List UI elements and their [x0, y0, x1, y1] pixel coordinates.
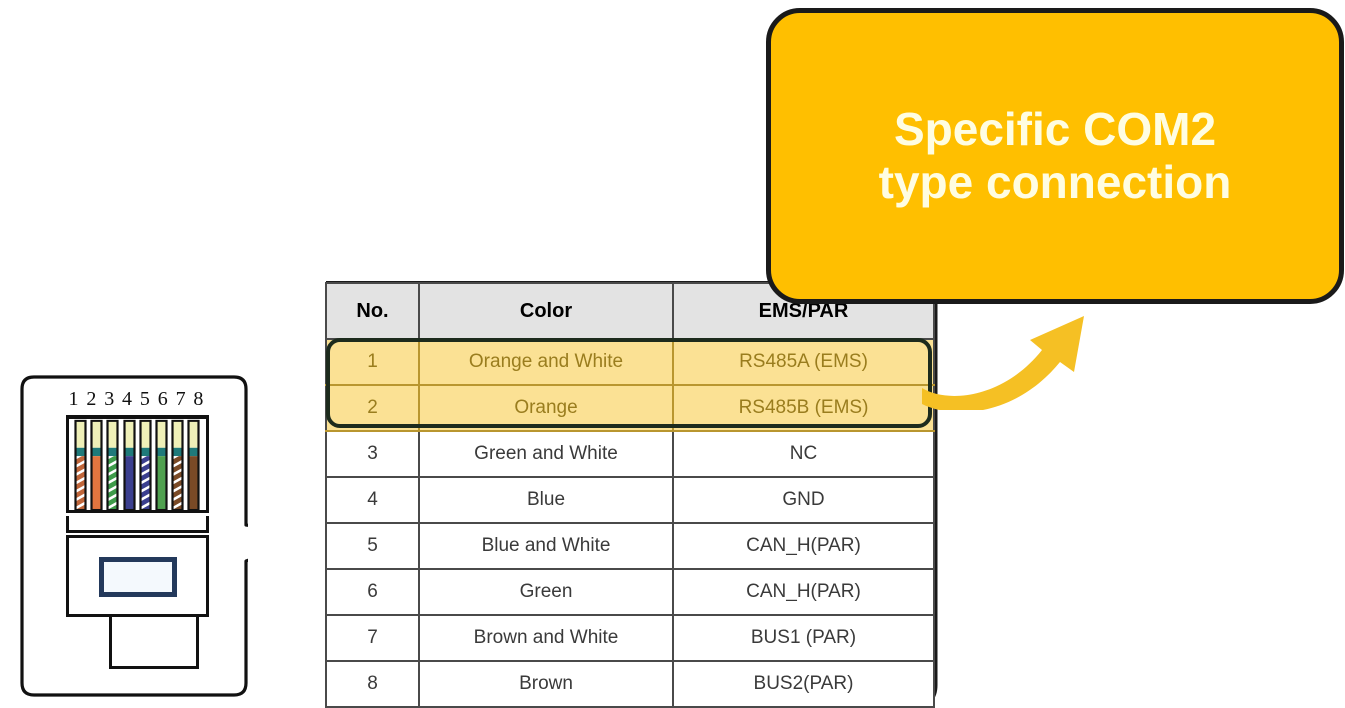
- column-header-no: No.: [326, 283, 419, 339]
- rj45-pin-number: 4: [120, 389, 135, 409]
- cell-pin-number: 7: [326, 615, 419, 661]
- rj45-contact-area: [66, 415, 209, 513]
- background-residual-text-left: [756, 70, 760, 85]
- rj45-pin-number: 8: [191, 389, 206, 409]
- rj45-body: [66, 535, 209, 617]
- cell-wire-color: Blue and White: [419, 523, 673, 569]
- cell-ems-par: CAN_H(PAR): [673, 523, 934, 569]
- table-row: 6GreenCAN_H(PAR): [326, 569, 934, 615]
- rj45-wire-pin-1: [74, 419, 87, 510]
- cell-wire-color: Green and White: [419, 431, 673, 477]
- rj45-wire-pin-3: [106, 419, 119, 510]
- cell-pin-number: 6: [326, 569, 419, 615]
- cell-ems-par: CAN_H(PAR): [673, 569, 934, 615]
- cell-ems-par: BUS2(PAR): [673, 661, 934, 707]
- table-row: 4BlueGND: [326, 477, 934, 523]
- cell-wire-color: Orange and White: [419, 339, 673, 385]
- cell-ems-par: GND: [673, 477, 934, 523]
- rj45-pin-number: 6: [155, 389, 170, 409]
- com2-callout-label: Specific COM2 type connection: [771, 103, 1339, 209]
- rj45-pinout-table: No. Color EMS/PAR 1Orange and WhiteRS485…: [325, 282, 935, 708]
- table-row: 1Orange and WhiteRS485A (EMS): [326, 339, 934, 385]
- rj45-wire-pin-4: [123, 419, 136, 510]
- cell-wire-color: Blue: [419, 477, 673, 523]
- cell-ems-par: RS485A (EMS): [673, 339, 934, 385]
- cell-pin-number: 3: [326, 431, 419, 477]
- cell-pin-number: 5: [326, 523, 419, 569]
- cell-wire-color: Brown and White: [419, 615, 673, 661]
- rj45-pin-number-row: 1 2 3 4 5 6 7 8: [66, 389, 206, 409]
- cell-wire-color: Green: [419, 569, 673, 615]
- cell-wire-color: Brown: [419, 661, 673, 707]
- rj45-wire-pin-2: [90, 419, 103, 510]
- curved-arrow-icon: [918, 292, 1093, 410]
- cell-pin-number: 8: [326, 661, 419, 707]
- diagram-canvas: 1 2 3 4 5 6 7 8 No. Color: [0, 0, 1345, 708]
- table-row: 7Brown and WhiteBUS1 (PAR): [326, 615, 934, 661]
- rj45-cable-tab: [109, 617, 199, 669]
- rj45-pin-number: 3: [102, 389, 117, 409]
- cell-wire-color: Orange: [419, 385, 673, 431]
- table-row: 3Green and WhiteNC: [326, 431, 934, 477]
- cell-pin-number: 1: [326, 339, 419, 385]
- background-residual-text-top: [775, 1, 779, 16]
- rj45-wire-pin-8: [187, 419, 200, 510]
- rj45-wire-pin-7: [171, 419, 184, 510]
- table-row: 2OrangeRS485B (EMS): [326, 385, 934, 431]
- rj45-contact-gap: [66, 516, 209, 533]
- pinout-table-callout: No. Color EMS/PAR 1Orange and WhiteRS485…: [324, 281, 952, 708]
- cell-ems-par: RS485B (EMS): [673, 385, 934, 431]
- rj45-wire-pin-6: [155, 419, 168, 510]
- rj45-wire-pin-5: [139, 419, 152, 510]
- com2-callout-box: Specific COM2 type connection: [766, 8, 1344, 304]
- cell-ems-par: NC: [673, 431, 934, 477]
- cell-pin-number: 4: [326, 477, 419, 523]
- rj45-connector-callout: 1 2 3 4 5 6 7 8: [20, 375, 248, 697]
- rj45-latch-window: [99, 557, 177, 597]
- column-header-color: Color: [419, 283, 673, 339]
- table-row: 5Blue and WhiteCAN_H(PAR): [326, 523, 934, 569]
- rj45-pin-number: 5: [137, 389, 152, 409]
- rj45-pin-number: 2: [84, 389, 99, 409]
- table-row: 8BrownBUS2(PAR): [326, 661, 934, 707]
- rj45-pin-number: 7: [173, 389, 188, 409]
- cell-pin-number: 2: [326, 385, 419, 431]
- cell-ems-par: BUS1 (PAR): [673, 615, 934, 661]
- rj45-pin-number: 1: [66, 389, 81, 409]
